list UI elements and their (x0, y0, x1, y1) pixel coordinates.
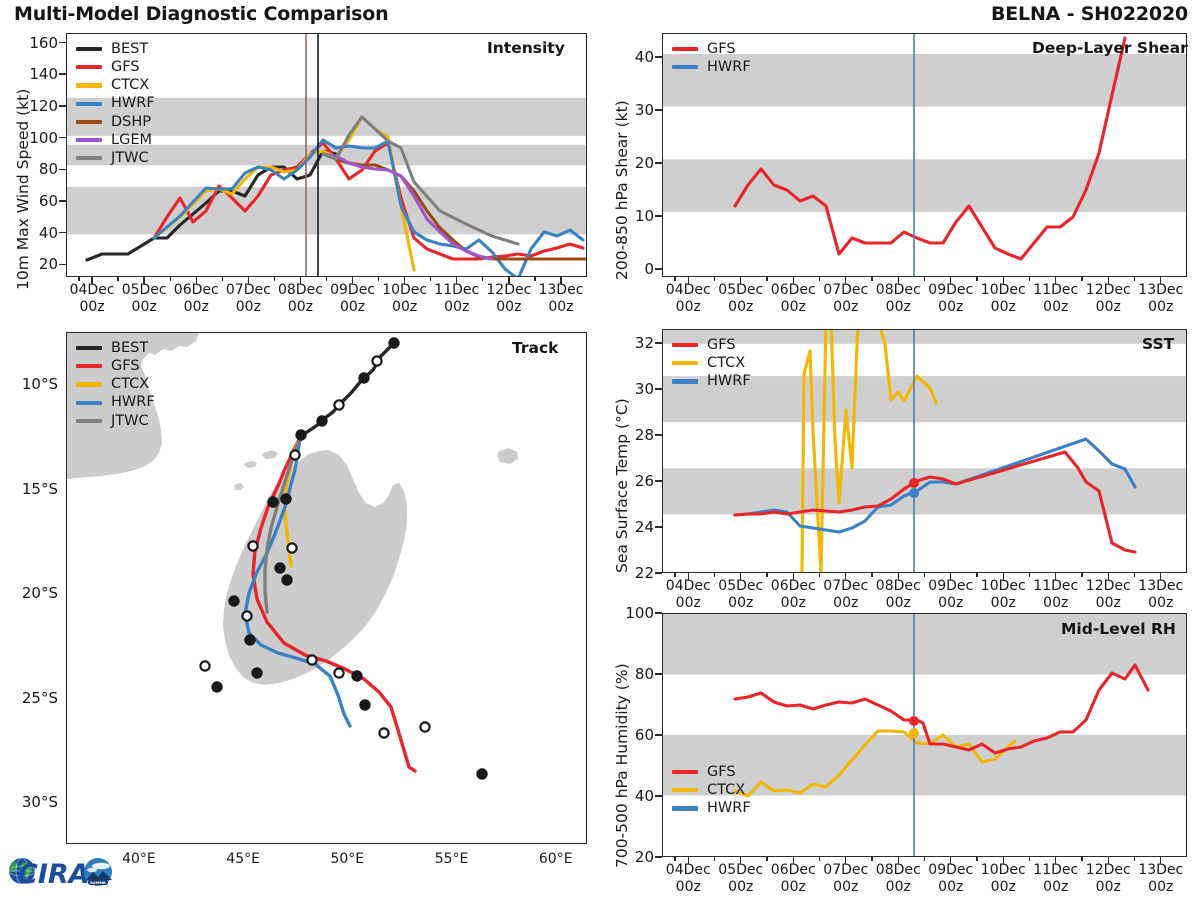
intensity-x-tick-mark (560, 277, 561, 284)
intensity-legend: BEST GFS CTCX HWRF DSHP LGEM JTWC (76, 40, 155, 167)
legend-label-jtwc: JTWC (111, 151, 149, 166)
shear-y-tick-label: 40 (608, 48, 654, 66)
sst-y-tick-mark (655, 572, 662, 573)
legend-item-ctcx: CTCX (672, 354, 751, 372)
rh-x-tick-mark (1055, 857, 1056, 864)
intensity-x-tick-mark (248, 277, 249, 284)
legend-swatch-gfs (76, 65, 102, 69)
sst-x-tick-mark (1003, 573, 1004, 580)
legend-item-gfs: GFS (672, 763, 751, 781)
sst-analysis-marker-hwrf (909, 488, 919, 498)
best-marker-filled (360, 700, 369, 709)
legend-item-ctcx: CTCX (76, 375, 155, 393)
sst-x-minor-tick (1081, 573, 1082, 577)
legend-swatch-dshp (76, 120, 102, 124)
legend-swatch-hwrf (672, 379, 698, 383)
legend-item-hwrf: HWRF (672, 799, 751, 817)
shear-y-tick-label: 30 (608, 101, 654, 119)
rh-y-tick-mark (655, 734, 662, 735)
best-marker-open (290, 450, 299, 459)
legend-label-gfs: GFS (111, 359, 140, 374)
sst-x-minor-tick (976, 573, 977, 577)
track-lon-tick-label: 60°E (522, 851, 590, 868)
legend-swatch-gfs (76, 364, 102, 368)
legend-swatch-ctcx (76, 83, 102, 87)
intensity-x-minor-tick (430, 277, 431, 281)
intensity-y-tick-label: 120 (12, 97, 58, 115)
intensity-y-tick-mark (59, 200, 66, 201)
best-marker-open (420, 722, 429, 731)
legend-swatch-best (76, 47, 102, 51)
intensity-x-tick-mark (143, 277, 144, 284)
shear-y-tick-mark (655, 162, 662, 163)
legend-swatch-hwrf (76, 401, 102, 405)
sst-x-minor-tick (1134, 573, 1135, 577)
best-marker-open (248, 541, 257, 550)
sst-x-minor-tick (674, 573, 675, 577)
shear-x-minor-tick (819, 277, 820, 281)
legend-item-jtwc: JTWC (76, 149, 155, 167)
sst-x-tick-mark (1160, 573, 1161, 580)
rh-chart-svg (663, 614, 1186, 856)
legend-label-gfs: GFS (111, 60, 140, 75)
intensity-x-minor-tick (534, 277, 535, 281)
rh-x-tick-mark (1108, 857, 1109, 864)
legend-item-dshp: DSHP (76, 113, 155, 131)
rh-x-minor-tick (976, 857, 977, 861)
best-marker-filled (389, 338, 398, 347)
shear-x-tick-mark (1055, 277, 1056, 284)
comoros-island-3 (234, 483, 244, 490)
shear-x-tick-mark (845, 277, 846, 284)
rh-y-tick-label: 40 (608, 787, 654, 805)
sst-x-tick-mark (898, 573, 899, 580)
sst-y-tick-label: 24 (608, 518, 654, 536)
legend-swatch-ctcx (672, 361, 698, 365)
legend-item-ctcx: CTCX (672, 781, 751, 799)
legend-item-gfs: GFS (672, 40, 751, 58)
legend-swatch-hwrf (76, 102, 102, 106)
best-marker-filled (268, 497, 277, 506)
sst-x-tick-mark (950, 573, 951, 580)
rh-y-tick-mark (655, 856, 662, 857)
svg-text:RAMMB: RAMMB (90, 881, 106, 885)
shear-x-minor-tick (976, 277, 977, 281)
shear-x-minor-tick (1081, 277, 1082, 281)
sst-x-tick-mark (1055, 573, 1056, 580)
best-marker-open (242, 611, 251, 620)
legend-swatch-ctcx (76, 382, 102, 386)
track-lat-tick-label: 20°S (4, 584, 58, 602)
legend-label-jtwc: JTWC (111, 414, 149, 429)
intensity-panel-title: Intensity (487, 39, 565, 57)
rh-x-tick-mark (950, 857, 951, 864)
track-lat-tick-label: 10°S (4, 375, 58, 393)
legend-label-hwrf: HWRF (707, 374, 751, 389)
rh-x-minor-tick (674, 857, 675, 861)
legend-item-gfs: GFS (672, 336, 751, 354)
rh-x-minor-tick (766, 857, 767, 861)
sst-y-tick-mark (655, 342, 662, 343)
best-marker-filled (275, 563, 284, 572)
rh-y-tick-label: 100 (608, 604, 654, 622)
intensity-x-minor-tick (117, 277, 118, 281)
legend-label-ctcx: CTCX (111, 377, 149, 392)
sst-y-tick-mark (655, 526, 662, 527)
legend-label-dshp: DSHP (111, 115, 151, 130)
legend-swatch-jtwc (76, 156, 102, 160)
intensity-x-tick-mark (352, 277, 353, 284)
intensity-y-tick-mark (59, 264, 66, 265)
intensity-y-tick-mark (59, 105, 66, 106)
intensity-x-minor-tick (78, 277, 79, 281)
best-marker-filled (212, 682, 221, 691)
rh-x-tick-day: 13Dec (1129, 862, 1193, 879)
sst-series (735, 330, 1135, 572)
comoros-island-1 (244, 461, 257, 468)
intensity-x-tick-mark (300, 277, 301, 284)
legend-swatch-lgem (76, 138, 102, 142)
sst-x-minor-tick (819, 573, 820, 577)
sst-y-tick-mark (655, 480, 662, 481)
shear-x-tick-mark (1160, 277, 1161, 284)
shear-x-tick-mark (740, 277, 741, 284)
shear-x-tick-mark (898, 277, 899, 284)
intensity-x-minor-tick (170, 277, 171, 281)
legend-label-best: BEST (111, 42, 148, 57)
shear-x-tick-mark (688, 277, 689, 284)
best-marker-filled (252, 668, 261, 677)
shear-x-minor-tick (1029, 277, 1030, 281)
intensity-y-tick-mark (59, 137, 66, 138)
legend-item-hwrf: HWRF (672, 372, 751, 390)
shear-y-tick-mark (655, 268, 662, 269)
rh-y-tick-label: 20 (608, 848, 654, 866)
rh-y-tick-label: 60 (608, 726, 654, 744)
rh-x-minor-tick (871, 857, 872, 861)
shear-panel-title: Deep-Layer Shear (1032, 39, 1188, 57)
intensity-y-tick-label: 80 (12, 160, 58, 178)
track-panel-title: Track (512, 339, 558, 357)
legend-swatch-best (76, 346, 102, 350)
intensity-x-minor-tick (378, 277, 379, 281)
shear-bands (663, 54, 1186, 212)
intensity-y-tick-label: 60 (12, 192, 58, 210)
intensity-y-tick-mark (59, 169, 66, 170)
rh-x-minor-tick (924, 857, 925, 861)
legend-item-jtwc: JTWC (76, 412, 155, 430)
intensity-x-minor-tick (326, 277, 327, 281)
best-marker-open (379, 728, 388, 737)
best-marker-filled (245, 635, 254, 644)
shear-x-minor-tick (714, 277, 715, 281)
rh-y-tick-label: 80 (608, 665, 654, 683)
rh-plot-area (662, 613, 1187, 857)
sst-x-minor-tick (714, 573, 715, 577)
shear-x-tick-label: 13Dec00z (1129, 282, 1193, 315)
legend-swatch-hwrf (672, 806, 698, 810)
best-marker-filled (296, 430, 305, 439)
intensity-x-tick-mark (508, 277, 509, 284)
rh-x-tick-mark (898, 857, 899, 864)
intensity-x-tick-mark (404, 277, 405, 284)
sst-x-tick-label: 13Dec00z (1129, 578, 1193, 611)
intensity-x-tick-mark (196, 277, 197, 284)
track-lon-tick-label: 50°E (313, 851, 381, 868)
shear-x-tick-mark (1108, 277, 1109, 284)
legend-label-hwrf: HWRF (707, 60, 751, 75)
legend-label-lgem: LGEM (111, 133, 152, 148)
shear-x-minor-tick (871, 277, 872, 281)
shear-ylabel: 200-850 hPa Shear (kt) (613, 100, 631, 280)
rh-y-tick-mark (655, 612, 662, 613)
rh-x-tick-mark (688, 857, 689, 864)
legend-label-hwrf: HWRF (111, 395, 155, 410)
legend-label-hwrf: HWRF (707, 801, 751, 816)
best-marker-open (334, 400, 343, 409)
rh-x-minor-tick (1134, 857, 1135, 861)
rh-ylabel: 700-500 hPa Humidity (%) (613, 663, 631, 868)
shear-x-minor-tick (674, 277, 675, 281)
rh-x-tick-mark (793, 857, 794, 864)
legend-item-lgem: LGEM (76, 131, 155, 149)
legend-swatch-gfs (672, 343, 698, 347)
rh-x-minor-tick (1081, 857, 1082, 861)
rh-x-tick-mark (1160, 857, 1161, 864)
shear-x-tick-mark (950, 277, 951, 284)
sst-panel-title: SST (1142, 335, 1174, 353)
series-CTCX (802, 330, 936, 572)
shear-y-tick-label: 20 (608, 154, 654, 172)
legend-swatch-jtwc (76, 419, 102, 423)
best-marker-filled (317, 416, 326, 425)
legend-item-gfs: GFS (76, 357, 155, 375)
best-marker-open (200, 661, 209, 670)
shear-y-tick-label: 0 (608, 260, 654, 278)
shear-y-tick-mark (655, 56, 662, 57)
legend-item-gfs: GFS (76, 58, 155, 76)
intensity-x-minor-tick (274, 277, 275, 281)
best-marker-open (307, 655, 316, 664)
best-marker-open (334, 668, 343, 677)
rh-panel-title: Mid-Level RH (1061, 620, 1176, 638)
shear-x-tick-day: 13Dec (1129, 282, 1193, 299)
rh-y-tick-mark (655, 795, 662, 796)
page-title-left: Multi-Model Diagnostic Comparison (14, 3, 388, 25)
madagascar-landmass (223, 450, 407, 685)
track-lat-tick-label: 25°S (4, 689, 58, 707)
intensity-x-tick-hour: 00z (529, 299, 593, 316)
best-marker-filled (477, 769, 486, 778)
intensity-y-tick-label: 40 (12, 224, 58, 242)
shear-y-tick-label: 10 (608, 207, 654, 225)
legend-swatch-gfs (672, 770, 698, 774)
best-marker-open (287, 543, 296, 552)
rh-analysis-marker-gfs (909, 716, 919, 726)
sst-x-tick-mark (688, 573, 689, 580)
legend-label-ctcx: CTCX (707, 356, 745, 371)
shear-y-tick-mark (655, 109, 662, 110)
best-marker-open (372, 356, 381, 365)
best-marker-filled (359, 373, 368, 382)
sst-x-tick-mark (793, 573, 794, 580)
intensity-y-tick-label: 100 (12, 129, 58, 147)
rh-x-tick-label: 13Dec00z (1129, 862, 1193, 895)
intensity-x-tick-label: 13Dec00z (529, 282, 593, 315)
logo-wordmark: CIRA (18, 859, 90, 890)
track-legend: BEST GFS CTCX HWRF JTWC (76, 339, 155, 430)
best-marker-filled (281, 494, 290, 503)
intensity-y-tick-label: 20 (12, 255, 58, 273)
shear-x-minor-tick (924, 277, 925, 281)
legend-item-hwrf: HWRF (76, 394, 155, 412)
sst-x-tick-mark (740, 573, 741, 580)
intensity-x-tick-day: 13Dec (529, 282, 593, 299)
rh-x-minor-tick (714, 857, 715, 861)
legend-label-best: BEST (111, 341, 148, 356)
legend-label-hwrf: HWRF (111, 96, 155, 111)
sst-legend: GFS CTCX HWRF (672, 336, 751, 391)
shear-x-minor-tick (1134, 277, 1135, 281)
sst-x-minor-tick (1029, 573, 1030, 577)
legend-item-hwrf: HWRF (672, 58, 751, 76)
sst-y-tick-label: 28 (608, 426, 654, 444)
rh-x-minor-tick (1029, 857, 1030, 861)
rh-x-minor-tick (819, 857, 820, 861)
cira-logo: CIRA RAMMB (6, 846, 126, 894)
legend-swatch-ctcx (672, 788, 698, 792)
best-marker-filled (229, 596, 238, 605)
shear-x-tick-mark (1003, 277, 1004, 284)
best-marker-filled (282, 575, 291, 584)
track-lon-tick-label: 55°E (418, 851, 486, 868)
sst-y-tick-label: 22 (608, 564, 654, 582)
rh-x-tick-hour: 00z (1129, 879, 1193, 896)
rh-analysis-marker-ctcx (909, 728, 919, 738)
shear-legend: GFS HWRF (672, 40, 751, 76)
sst-x-minor-tick (766, 573, 767, 577)
rh-x-tick-mark (845, 857, 846, 864)
sst-y-tick-label: 30 (608, 380, 654, 398)
track-lon-tick-label: 45°E (209, 851, 277, 868)
intensity-y-tick-mark (59, 73, 66, 74)
intensity-y-tick-label: 140 (12, 65, 58, 83)
sst-analysis-marker-gfs (909, 478, 919, 488)
legend-item-ctcx: CTCX (76, 76, 155, 94)
intensity-x-minor-tick (482, 277, 483, 281)
sst-x-tick-hour: 00z (1129, 595, 1193, 612)
page-title-right: BELNA - SH022020 (991, 3, 1188, 25)
shear-x-tick-hour: 00z (1129, 299, 1193, 316)
sst-x-tick-mark (1108, 573, 1109, 580)
shear-y-tick-mark (655, 215, 662, 216)
sst-y-tick-mark (655, 388, 662, 389)
shear-x-tick-mark (793, 277, 794, 284)
comoros-island-2 (262, 450, 278, 459)
sst-x-minor-tick (871, 573, 872, 577)
intensity-x-minor-tick (222, 277, 223, 281)
track-lat-tick-label: 15°S (4, 480, 58, 498)
legend-label-gfs: GFS (707, 765, 736, 780)
legend-swatch-hwrf (672, 65, 698, 69)
sst-x-minor-tick (924, 573, 925, 577)
intensity-x-tick-mark (456, 277, 457, 284)
sst-x-tick-day: 13Dec (1129, 578, 1193, 595)
mauritius-island (497, 448, 518, 464)
shear-x-minor-tick (766, 277, 767, 281)
rh-x-tick-mark (1003, 857, 1004, 864)
sst-y-tick-mark (655, 434, 662, 435)
intensity-y-tick-label: 160 (12, 34, 58, 52)
best-marker-filled (352, 671, 361, 680)
intensity-y-tick-mark (59, 232, 66, 233)
sst-x-tick-mark (845, 573, 846, 580)
legend-label-gfs: GFS (707, 42, 736, 57)
legend-swatch-gfs (672, 47, 698, 51)
rh-legend: GFS CTCX HWRF (672, 763, 751, 818)
legend-label-gfs: GFS (707, 338, 736, 353)
intensity-x-tick-mark (91, 277, 92, 284)
legend-item-hwrf: HWRF (76, 95, 155, 113)
sst-y-tick-label: 26 (608, 472, 654, 490)
track-lat-tick-label: 30°S (4, 793, 58, 811)
intensity-y-tick-mark (59, 42, 66, 43)
legend-label-ctcx: CTCX (111, 78, 149, 93)
legend-label-ctcx: CTCX (707, 783, 745, 798)
rh-x-tick-mark (740, 857, 741, 864)
legend-item-best: BEST (76, 40, 155, 58)
rh-y-tick-mark (655, 673, 662, 674)
sst-y-tick-label: 32 (608, 334, 654, 352)
legend-item-best: BEST (76, 339, 155, 357)
